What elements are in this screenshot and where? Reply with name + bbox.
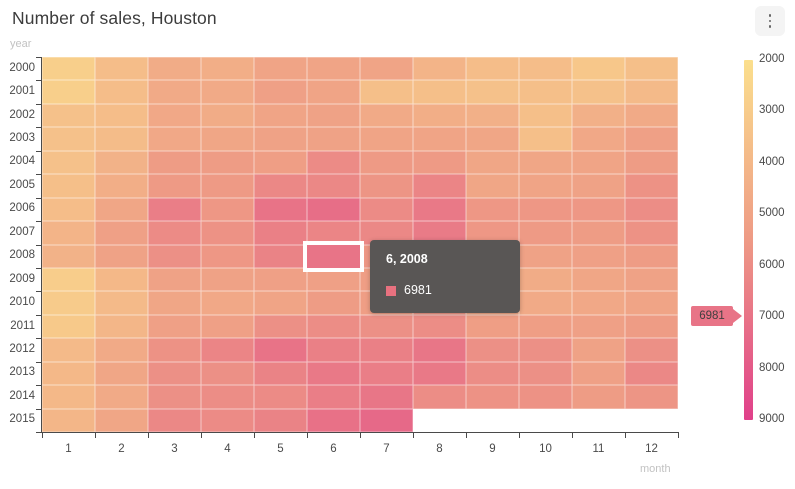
heatmap-cell[interactable] [95,245,148,268]
x-axis-tick [254,433,255,438]
heatmap-cell[interactable] [201,362,254,385]
color-legend-tick-label: 5000 [759,207,785,219]
heatmap-cell[interactable] [413,385,466,408]
heatmap-cell[interactable] [625,57,678,80]
color-legend-marker-arrow-icon [733,309,742,323]
y-axis-tick-label: 2004 [9,155,35,167]
heatmap-cell[interactable] [42,127,95,150]
heatmap-cell[interactable] [360,315,413,338]
heatmap-cell[interactable] [42,338,95,361]
y-axis-tick-label: 2010 [9,296,35,308]
heatmap-cell[interactable] [201,198,254,221]
heatmap-cell[interactable] [519,198,572,221]
y-axis-line [41,57,42,433]
heatmap-cell[interactable] [413,80,466,103]
heatmap-cell[interactable] [625,385,678,408]
y-axis-tick-label: 2006 [9,202,35,214]
x-axis-tick [201,433,202,438]
heatmap-cell[interactable] [148,315,201,338]
y-axis-tick [36,268,41,269]
heatmap-cell[interactable] [413,315,466,338]
y-axis-tick-label: 2007 [9,226,35,238]
heatmap-cell[interactable] [95,57,148,80]
color-legend-bar[interactable] [744,60,753,420]
y-axis-tick [36,127,41,128]
color-legend-marker-value: 6981 [691,306,733,326]
heatmap-cell[interactable] [625,198,678,221]
y-axis-tick [36,315,41,316]
x-axis-tick [519,433,520,438]
heatmap-cell[interactable] [572,57,625,80]
heatmap-cell[interactable] [42,268,95,291]
heatmap-cell[interactable] [572,268,625,291]
heatmap-cell[interactable] [307,174,360,197]
x-axis-tick [625,433,626,438]
heatmap-cell[interactable] [201,385,254,408]
heatmap-cell[interactable] [254,315,307,338]
heatmap-cell[interactable] [148,104,201,127]
heatmap-cell[interactable] [572,245,625,268]
heatmap-cell[interactable] [42,151,95,174]
x-axis-tick-label: 6 [314,443,354,455]
x-axis-tick-label: 11 [579,443,619,455]
heatmap-cell[interactable] [95,221,148,244]
y-axis-tick [36,432,41,433]
heatmap-cell[interactable] [466,151,519,174]
heatmap-cell[interactable] [42,291,95,314]
tooltip-value: 6981 [404,283,432,297]
x-axis-tick-label: 5 [261,443,301,455]
heatmap-cell[interactable] [360,57,413,80]
y-axis-title: year [10,38,31,50]
heatmap-cell[interactable] [307,127,360,150]
y-axis-tick-label: 2009 [9,273,35,285]
y-axis-tick [36,104,41,105]
x-axis-tick-label: 7 [367,443,407,455]
heatmap-cell[interactable] [148,151,201,174]
heatmap-cell[interactable] [360,338,413,361]
heatmap-cell[interactable] [201,151,254,174]
x-axis-tick-label: 9 [473,443,513,455]
heatmap-cell[interactable] [572,198,625,221]
y-axis-tick-label: 2013 [9,366,35,378]
x-axis-tick-label: 12 [632,443,672,455]
y-axis-tick-label: 2005 [9,179,35,191]
y-axis-tick [36,245,41,246]
heatmap-cell[interactable] [360,385,413,408]
heatmap-cell[interactable] [307,409,360,432]
y-axis-tick [36,221,41,222]
x-axis-tick [148,433,149,438]
heatmap-cell[interactable] [42,198,95,221]
heatmap-cell[interactable] [95,198,148,221]
heatmap-cell[interactable] [254,127,307,150]
heatmap-cell[interactable] [625,338,678,361]
heatmap-cell[interactable] [519,127,572,150]
x-axis-tick-label: 4 [208,443,248,455]
heatmap-cell[interactable] [307,338,360,361]
heatmap-cell[interactable] [42,315,95,338]
heatmap-cell[interactable] [42,221,95,244]
heatmap-cell[interactable] [360,127,413,150]
heatmap-plot-area[interactable] [42,57,678,432]
heatmap-cell[interactable] [254,291,307,314]
color-legend-tick-label: 8000 [759,362,785,374]
y-axis-tick [36,198,41,199]
heatmap-cell[interactable] [148,57,201,80]
x-axis-tick-label: 3 [155,443,195,455]
heatmap-cell[interactable] [466,80,519,103]
heatmap-cell[interactable] [519,104,572,127]
heatmap-cell[interactable] [360,198,413,221]
menu-dot [769,20,772,23]
x-axis-tick [678,433,679,438]
heatmap-cell[interactable] [625,127,678,150]
x-axis-tick [360,433,361,438]
heatmap-cell[interactable] [625,291,678,314]
heatmap-cell[interactable] [413,338,466,361]
heatmap-cell[interactable] [201,174,254,197]
heatmap-cell[interactable] [519,291,572,314]
heatmap-cell[interactable] [360,104,413,127]
heatmap-cell[interactable] [466,315,519,338]
heatmap-cell[interactable] [307,291,360,314]
heatmap-cell[interactable] [95,385,148,408]
heatmap-cell[interactable] [625,174,678,197]
heatmap-cell[interactable] [519,362,572,385]
heatmap-cell[interactable] [201,57,254,80]
heatmap-cell[interactable] [148,245,201,268]
x-axis-tick [466,433,467,438]
heatmap-cell[interactable] [466,198,519,221]
heatmap-cell[interactable] [42,174,95,197]
y-axis-tick-label: 2000 [9,62,35,74]
heatmap-cell[interactable] [201,127,254,150]
heatmap-cell[interactable] [95,409,148,432]
heatmap-cell[interactable] [466,338,519,361]
x-axis-tick [307,433,308,438]
heatmap-cell[interactable] [254,104,307,127]
heatmap-cell[interactable] [572,362,625,385]
heatmap-cell[interactable] [466,362,519,385]
y-axis-tick [36,291,41,292]
heatmap-cell[interactable] [303,241,364,272]
color-legend-tick-label: 6000 [759,259,785,271]
heatmap-cell[interactable] [148,80,201,103]
heatmap-cell[interactable] [201,104,254,127]
heatmap-cell[interactable] [201,315,254,338]
heatmap-cell[interactable] [95,127,148,150]
color-legend-marker: 6981 [691,306,733,326]
heatmap-cell[interactable] [254,362,307,385]
heatmap-cell[interactable] [148,291,201,314]
more-vertical-icon[interactable] [755,6,785,36]
color-legend-tick-label: 3000 [759,104,785,116]
heatmap-cell[interactable] [42,362,95,385]
heatmap-cell[interactable] [42,104,95,127]
heatmap-cell[interactable] [413,104,466,127]
heatmap-cell[interactable] [307,362,360,385]
heatmap-cell[interactable] [95,174,148,197]
heatmap-cell[interactable] [307,385,360,408]
x-axis-tick-label: 1 [49,443,89,455]
heatmap-cell[interactable] [254,151,307,174]
heatmap-cell[interactable] [572,151,625,174]
y-axis-tick-label: 2001 [9,85,35,97]
color-legend-tick-label: 7000 [759,310,785,322]
heatmap-cell[interactable] [572,221,625,244]
heatmap-cell[interactable] [572,315,625,338]
heatmap-cell[interactable] [254,57,307,80]
heatmap-cell[interactable] [307,151,360,174]
x-axis-tick [572,433,573,438]
heatmap-cell[interactable] [519,174,572,197]
page-title: Number of sales, Houston [12,8,217,29]
x-axis-title: month [640,463,671,475]
tooltip-color-swatch [386,286,396,296]
heatmap-cell[interactable] [148,362,201,385]
heatmap-cell[interactable] [95,151,148,174]
color-legend-tick-label: 2000 [759,53,785,65]
heatmap-cell[interactable] [307,198,360,221]
heatmap-cell[interactable] [360,362,413,385]
heatmap-cell[interactable] [42,245,95,268]
heatmap-cell[interactable] [201,245,254,268]
heatmap-cell[interactable] [254,385,307,408]
heatmap-cell[interactable] [466,127,519,150]
heatmap-cell[interactable] [519,80,572,103]
heatmap-cell[interactable] [360,151,413,174]
heatmap-cell[interactable] [95,104,148,127]
heatmap-cell[interactable] [148,174,201,197]
color-legend-tick-label: 4000 [759,156,785,168]
heatmap-cell[interactable] [95,315,148,338]
heatmap-cell[interactable] [413,127,466,150]
heatmap-cell[interactable] [307,104,360,127]
heatmap-cell[interactable] [307,315,360,338]
heatmap-cell[interactable] [519,151,572,174]
heatmap-cell[interactable] [360,174,413,197]
heatmap-cell[interactable] [307,80,360,103]
menu-dot [769,14,772,17]
heatmap-cell[interactable] [254,80,307,103]
heatmap-cell[interactable] [95,291,148,314]
x-axis-tick-label: 2 [102,443,142,455]
x-axis-tick [95,433,96,438]
y-axis-tick [36,80,41,81]
heatmap-cell[interactable] [572,385,625,408]
x-axis-tick [42,433,43,438]
heatmap-cell[interactable] [201,221,254,244]
heatmap-chart-app: Number of sales, Houston year month 6, 2… [0,0,795,489]
heatmap-cell[interactable] [413,151,466,174]
heatmap-cell[interactable] [201,268,254,291]
heatmap-cell[interactable] [201,338,254,361]
heatmap-cell[interactable] [95,362,148,385]
heatmap-cell[interactable] [254,409,307,432]
heatmap-cell[interactable] [625,362,678,385]
y-axis-tick-label: 2002 [9,109,35,121]
heatmap-cell[interactable] [42,385,95,408]
heatmap-cell[interactable] [572,80,625,103]
heatmap-cell[interactable] [413,174,466,197]
heatmap-cell[interactable] [413,362,466,385]
heatmap-cell[interactable] [519,385,572,408]
y-axis-tick [36,385,41,386]
y-axis-tick-label: 2012 [9,343,35,355]
heatmap-cell[interactable] [466,57,519,80]
heatmap-cell[interactable] [95,338,148,361]
heatmap-cell[interactable] [254,268,307,291]
tooltip: 6, 2008 6981 [370,240,520,313]
heatmap-cell[interactable] [625,221,678,244]
heatmap-cell[interactable] [519,338,572,361]
heatmap-cell[interactable] [95,80,148,103]
heatmap-cell[interactable] [625,104,678,127]
heatmap-cell[interactable] [572,104,625,127]
x-axis-tick [413,433,414,438]
heatmap-cell[interactable] [572,174,625,197]
heatmap-cell[interactable] [360,409,413,432]
heatmap-cell[interactable] [466,174,519,197]
heatmap-cell[interactable] [572,338,625,361]
heatmap-cell[interactable] [148,198,201,221]
color-legend-tick-label: 9000 [759,413,785,425]
heatmap-cell[interactable] [466,385,519,408]
y-axis-tick [36,174,41,175]
heatmap-cell[interactable] [201,80,254,103]
heatmap-cell[interactable] [148,409,201,432]
tooltip-title: 6, 2008 [386,252,428,266]
heatmap-cell[interactable] [254,198,307,221]
heatmap-cell[interactable] [42,409,95,432]
y-axis-tick [36,151,41,152]
y-axis-tick-label: 2008 [9,249,35,261]
heatmap-cell[interactable] [254,245,307,268]
heatmap-cell[interactable] [572,127,625,150]
heatmap-cell[interactable] [148,338,201,361]
y-axis-tick [36,57,41,58]
heatmap-cell[interactable] [413,57,466,80]
y-axis-tick-label: 2011 [10,320,35,332]
heatmap-cell[interactable] [95,268,148,291]
menu-dot [769,25,772,28]
heatmap-cell[interactable] [254,221,307,244]
y-axis-tick [36,338,41,339]
heatmap-cell[interactable] [572,291,625,314]
heatmap-cell[interactable] [625,315,678,338]
heatmap-cell[interactable] [625,80,678,103]
y-axis-tick-label: 2003 [9,132,35,144]
heatmap-cell[interactable] [254,338,307,361]
heatmap-cell[interactable] [148,221,201,244]
heatmap-cell[interactable] [519,221,572,244]
heatmap-cell[interactable] [625,151,678,174]
heatmap-cell[interactable] [42,57,95,80]
y-axis-tick-label: 2014 [9,390,35,402]
x-axis-tick-label: 8 [420,443,460,455]
heatmap-cell[interactable] [148,385,201,408]
heatmap-cell[interactable] [519,57,572,80]
heatmap-cell[interactable] [625,268,678,291]
heatmap-cell[interactable] [466,104,519,127]
y-axis-tick [36,362,41,363]
heatmap-cell[interactable] [625,245,678,268]
x-axis-tick-label: 10 [526,443,566,455]
heatmap-cell[interactable] [254,174,307,197]
y-axis-tick [36,409,41,410]
heatmap-cell[interactable] [148,268,201,291]
heatmap-cell[interactable] [148,127,201,150]
y-axis-tick-label: 2015 [9,413,35,425]
heatmap-cell[interactable] [519,245,572,268]
heatmap-cell[interactable] [201,409,254,432]
heatmap-cell[interactable] [413,198,466,221]
heatmap-cell[interactable] [201,291,254,314]
heatmap-cell[interactable] [519,315,572,338]
heatmap-cell[interactable] [360,80,413,103]
heatmap-cell[interactable] [307,57,360,80]
heatmap-cell[interactable] [519,268,572,291]
heatmap-cell[interactable] [42,80,95,103]
